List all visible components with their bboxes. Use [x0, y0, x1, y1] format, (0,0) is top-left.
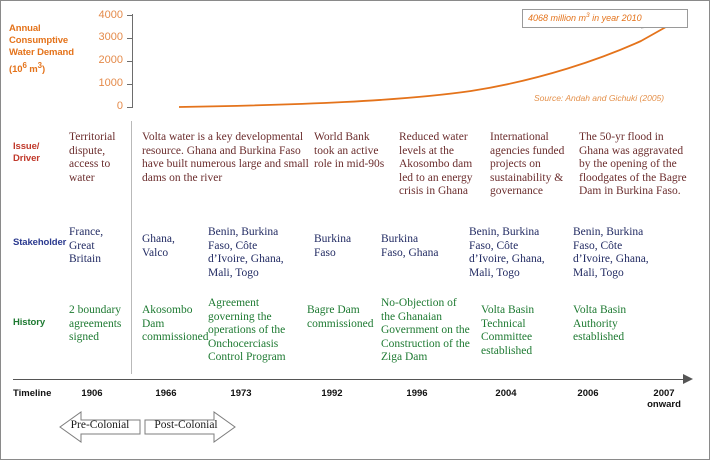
timeline-arrow-head: [683, 374, 693, 384]
water-demand-chart: Annual Consumptive Water Demand (106 m3)…: [1, 1, 710, 121]
era-label-post-colonial: Post-Colonial: [144, 419, 228, 431]
timeline-year-1906: 1906: [57, 388, 127, 399]
row-label-issue-line2: Driver: [13, 153, 40, 165]
cell-stakeholder-2004: Benin, Burkina Faso, Côte d’Ivoire, Ghan…: [469, 226, 557, 280]
cell-issue-1996: Reduced water levels at the Akosombo dam…: [399, 131, 481, 199]
timeline-year-2004: 2004: [471, 388, 541, 399]
timeline-year-onward: onward: [629, 399, 699, 410]
cell-history-2007: Volta Basin Authority established: [573, 304, 643, 345]
row-label-history: History: [13, 317, 45, 329]
cell-stakeholder-1992: Burkina Faso: [314, 233, 366, 260]
timeline-label: Timeline: [13, 388, 51, 399]
callout-label: 4068 million m3 in year 2010: [528, 12, 642, 23]
cell-stakeholder-1906: France, Great Britain: [69, 226, 125, 267]
cell-history-2004: Volta Basin Technical Committee establis…: [481, 304, 549, 358]
timeline-year-2007-onward: 2007 onward: [629, 388, 699, 410]
era-label-pre-colonial: Pre-Colonial: [59, 419, 141, 431]
timeline-axis: [13, 379, 685, 380]
infographic-canvas: Annual Consumptive Water Demand (106 m3)…: [0, 0, 710, 460]
row-label-issue-driver: Issue/ Driver: [13, 141, 40, 165]
cell-issue-2004: International agencies funded projects o…: [490, 131, 576, 199]
timeline-year-2007: 2007: [629, 388, 699, 399]
cell-issue-1966: Volta water is a key developmental resou…: [142, 131, 310, 185]
cell-issue-1906: Territorial dispute, access to water: [69, 131, 127, 185]
row-label-stakeholder-line1: Stakeholder: [13, 237, 66, 249]
cell-issue-1992: World Bank took an active role in mid-90…: [314, 131, 386, 172]
cell-history-1906: 2 boundary agreements signed: [69, 304, 127, 345]
cell-history-1973: Agreement governing the operations of th…: [208, 297, 300, 365]
column-separator: [131, 121, 132, 374]
timeline-year-1966: 1966: [131, 388, 201, 399]
source-attribution: Source: Andah and Gichuki (2005): [534, 93, 664, 103]
cell-stakeholder-1973: Benin, Burkina Faso, Côte d’Ivoire, Ghan…: [208, 226, 296, 280]
cell-history-1966: Akosombo Dam commissioned: [142, 304, 202, 345]
cell-stakeholder-2007: Benin, Burkina Faso, Côte d’Ivoire, Ghan…: [573, 226, 661, 280]
timeline-year-1996: 1996: [382, 388, 452, 399]
row-label-stakeholder: Stakeholder: [13, 237, 66, 249]
cell-stakeholder-1966: Ghana, Valco: [142, 233, 198, 260]
timeline-year-2006: 2006: [553, 388, 623, 399]
row-label-issue-line1: Issue/: [13, 141, 40, 153]
cell-stakeholder-1996: Burkina Faso, Ghana: [381, 233, 441, 260]
timeline-year-1973: 1973: [206, 388, 276, 399]
row-label-history-line1: History: [13, 317, 45, 329]
cell-history-1992: Bagre Dam commissioned: [307, 304, 369, 331]
timeline-year-1992: 1992: [297, 388, 367, 399]
cell-issue-2007: The 50-yr flood in Ghana was aggravated …: [579, 131, 691, 199]
cell-history-1996: No-Objection of the Ghanaian Government …: [381, 297, 473, 365]
